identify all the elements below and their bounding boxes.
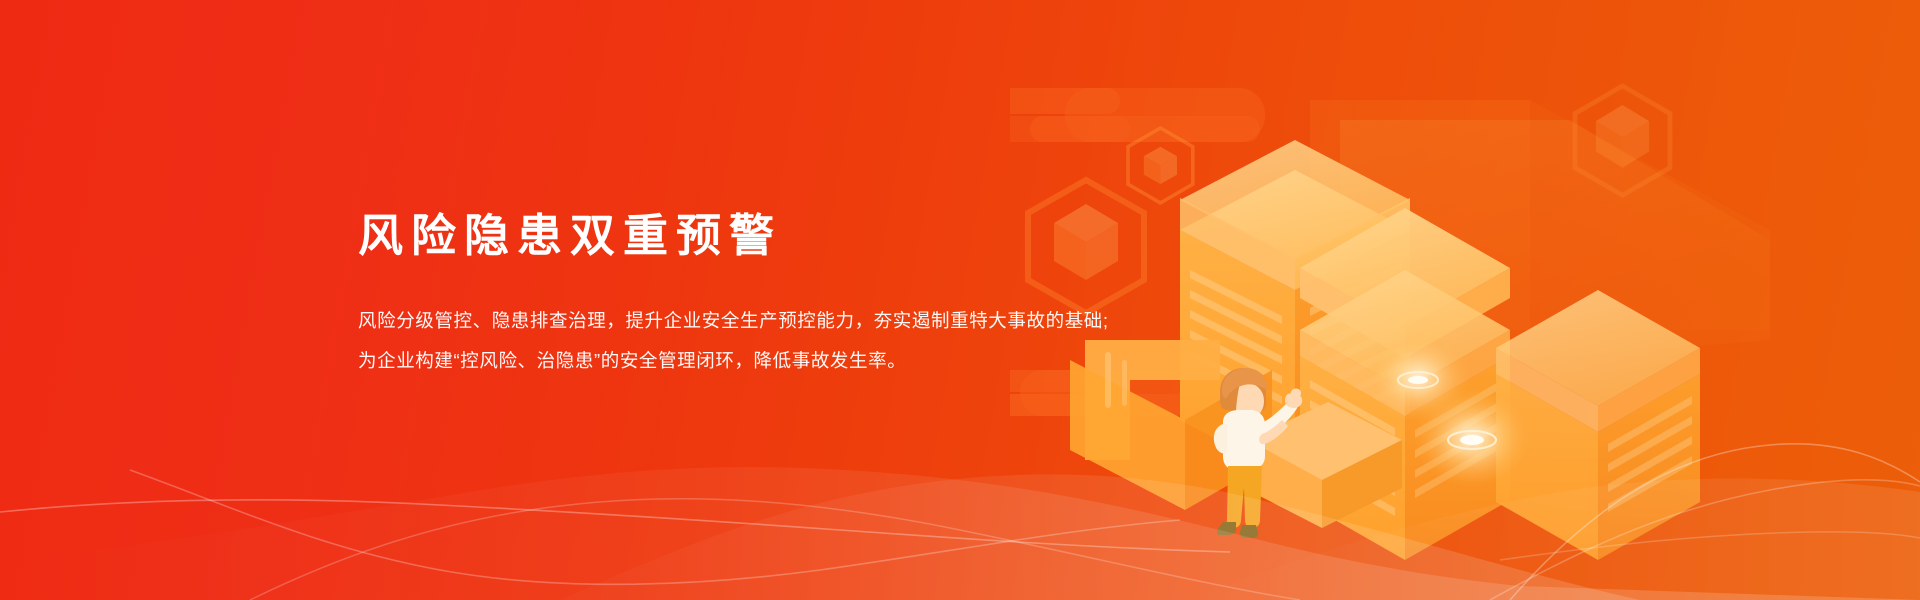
risk-warning-banner: 风险隐患双重预警 风险分级管控、隐患排查治理，提升企业安全生产预控能力，夯实遏制… (0, 0, 1920, 600)
banner-text-block: 风险隐患双重预警 风险分级管控、隐患排查治理，提升企业安全生产预控能力，夯实遏制… (358, 212, 1178, 381)
person-shirt (1223, 410, 1265, 470)
subtitle-line-1: 风险分级管控、隐患排查治理，提升企业安全生产预控能力，夯实遏制重特大事故的基础; (358, 301, 1178, 341)
person-shoe-left (1217, 522, 1236, 535)
banner-subtitle: 风险分级管控、隐患排查治理，提升企业安全生产预控能力，夯实遏制重特大事故的基础;… (358, 301, 1178, 381)
person-shoe-right (1240, 525, 1258, 538)
person-pants (1227, 466, 1262, 528)
page-title: 风险隐患双重预警 (358, 212, 1178, 259)
glow-point-right (1414, 388, 1530, 488)
cloud-motif-upper (1010, 88, 1265, 142)
subtitle-line-2: 为企业构建“控风险、治隐患”的安全管理闭环，降低事故发生率。 (358, 341, 1178, 381)
